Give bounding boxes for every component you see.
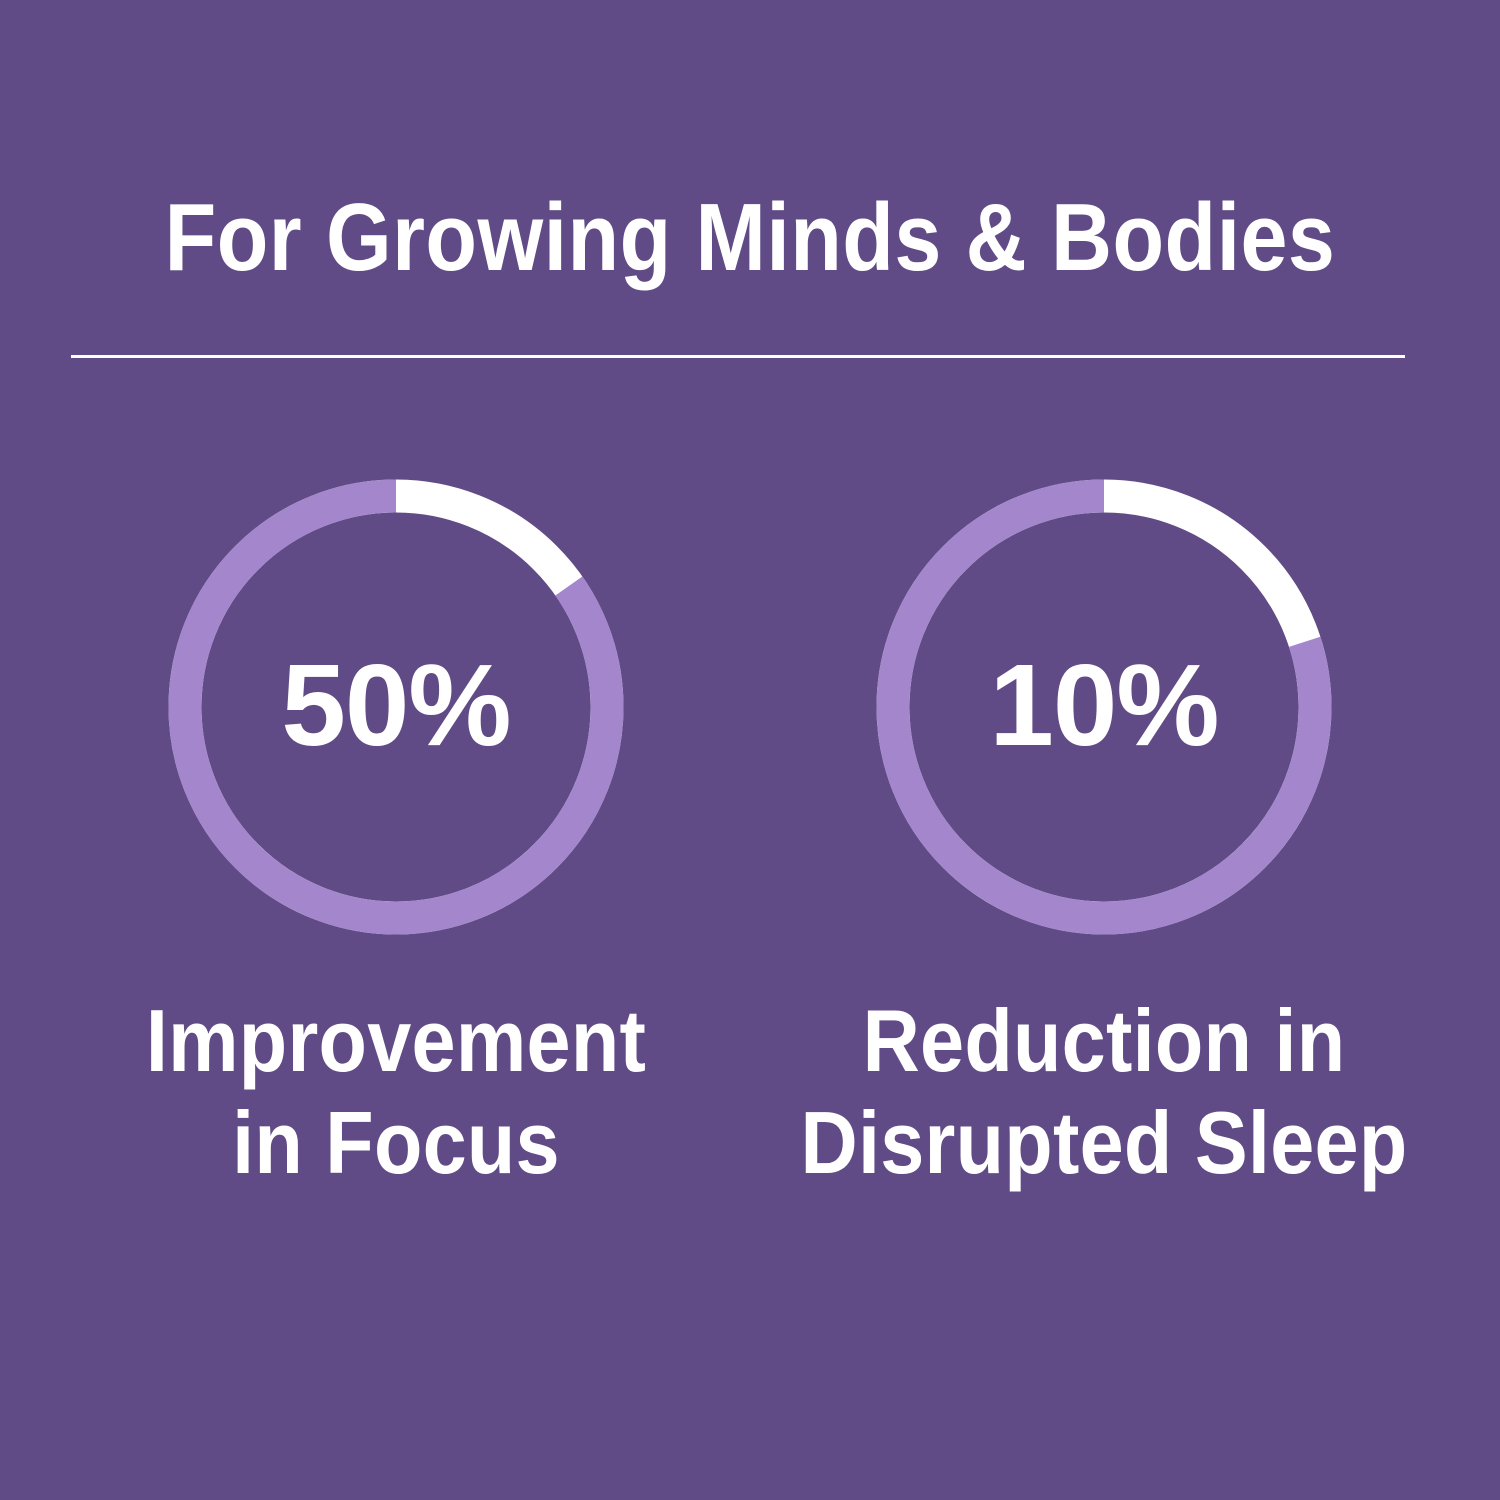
donut-chart-reduction-in-disrupted-sleep: 10% — [867, 470, 1341, 944]
stat-label-line-1: Reduction in — [798, 990, 1410, 1092]
page-title: For Growing Minds & Bodies — [90, 183, 1410, 293]
title-divider — [71, 355, 1405, 358]
stat-label-line-2: Disrupted Sleep — [798, 1092, 1410, 1194]
stat-card-improvement-in-focus: 50% Improvement in Focus — [86, 470, 706, 1260]
infographic-canvas: For Growing Minds & Bodies 50% Improveme… — [0, 0, 1500, 1500]
donut-svg — [159, 470, 633, 944]
stat-label-line-1: Improvement — [90, 990, 702, 1092]
donut-chart-improvement-in-focus: 50% — [159, 470, 633, 944]
stat-label-line-2: in Focus — [90, 1092, 702, 1194]
donut-svg — [867, 470, 1341, 944]
stat-card-reduction-in-disrupted-sleep: 10% Reduction in Disrupted Sleep — [794, 470, 1414, 1260]
stat-label-improvement-in-focus: Improvement in Focus — [90, 990, 702, 1194]
stats-row: 50% Improvement in Focus 10% Reduction i… — [0, 470, 1500, 1260]
stat-label-reduction-in-disrupted-sleep: Reduction in Disrupted Sleep — [798, 990, 1410, 1194]
